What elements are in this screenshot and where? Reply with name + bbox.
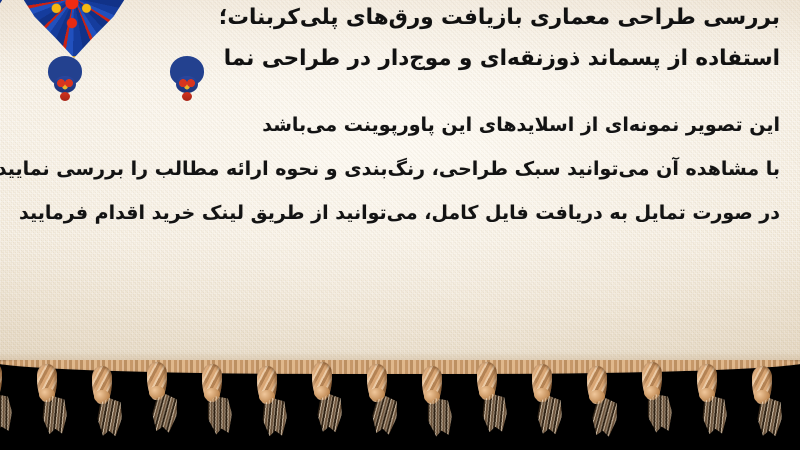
slide-body-line-1: این تصویر نمونه‌ای از اسلایدهای این پاور… [262,114,780,136]
slide-title-line-2: استفاده از پسماند ذوزنقه‌ای و موج‌دار در… [224,46,780,71]
fringe-knot [0,362,2,400]
fringe-cord [0,360,800,374]
slide-text-area: بررسی طراحی معماری بازیافت ورق‌های پلی‌ک… [0,0,800,378]
slide-canvas: بررسی طراحی معماری بازیافت ورق‌های پلی‌ک… [0,0,800,450]
fringe-tassel [0,392,14,433]
knotted-carpet-fringe [0,360,800,450]
slide-title-line-1: بررسی طراحی معماری بازیافت ورق‌های پلی‌ک… [219,5,780,30]
slide-body-line-3: در صورت تمایل به دریافت فایل کامل، می‌تو… [19,202,780,224]
slide-body-line-2: با مشاهده آن می‌توانید سبک طراحی، رنگ‌بن… [0,158,780,180]
